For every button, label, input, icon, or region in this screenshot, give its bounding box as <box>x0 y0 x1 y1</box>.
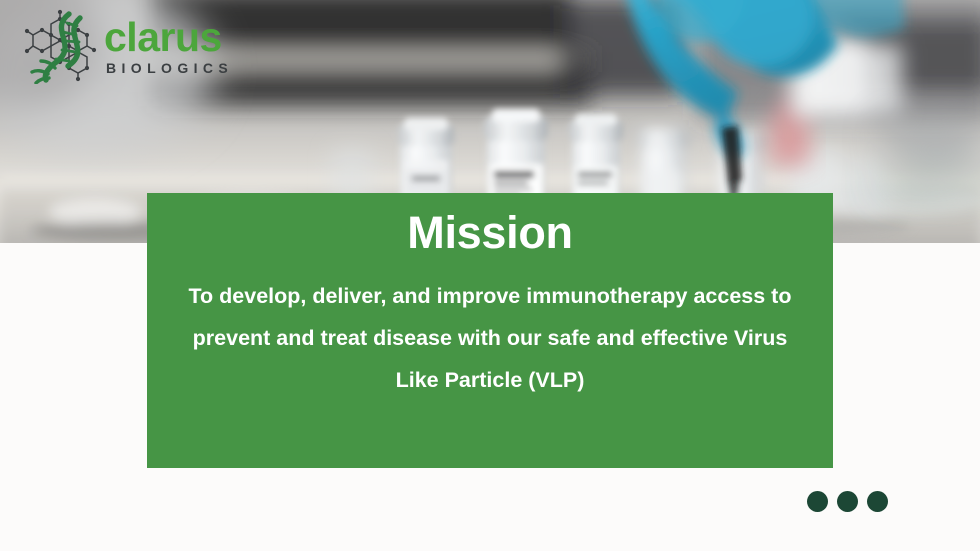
logo-wordmark: clarus <box>104 18 233 57</box>
dot-2 <box>837 491 858 512</box>
dna-helix-molecule-icon <box>22 8 100 84</box>
page-title: Mission <box>181 207 799 259</box>
mission-slide: clarus BIOLOGICS Mission To develop, del… <box>0 0 980 551</box>
three-dots-decoration <box>807 491 888 512</box>
mission-panel: Mission To develop, deliver, and improve… <box>147 193 833 468</box>
dot-1 <box>807 491 828 512</box>
brand-logo[interactable]: clarus BIOLOGICS <box>22 8 237 84</box>
logo-subtitle: BIOLOGICS <box>104 60 233 77</box>
mission-statement-text: To develop, deliver, and improve immunot… <box>181 276 799 402</box>
logo-text-group: clarus BIOLOGICS <box>104 16 233 77</box>
dot-3 <box>867 491 888 512</box>
